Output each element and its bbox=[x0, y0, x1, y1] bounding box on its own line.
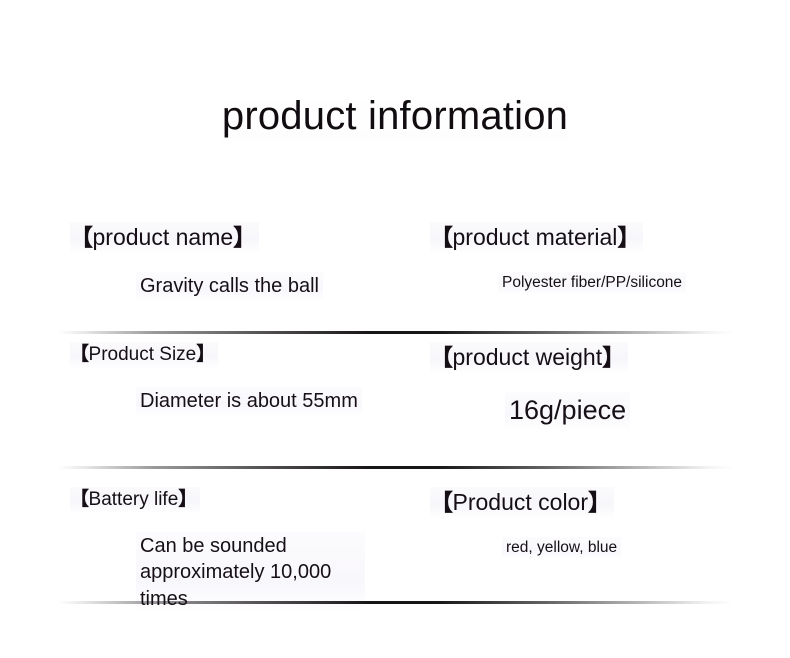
spec-label-product-weight: 【product weight】 bbox=[430, 342, 628, 374]
bracket-close-icon: 】 bbox=[617, 224, 640, 250]
spec-row: 【Battery life】 Can be sounded approximat… bbox=[0, 487, 790, 632]
bracket-open-icon: 【 bbox=[70, 224, 93, 250]
spec-label-text: Product Size bbox=[89, 344, 197, 365]
bracket-close-icon: 】 bbox=[233, 224, 256, 250]
spec-table: 【product name】 Gravity calls the ball 【p… bbox=[0, 222, 790, 632]
bracket-close-icon: 】 bbox=[602, 344, 625, 370]
spec-value-product-size: Diameter is about 55mm bbox=[136, 387, 362, 416]
row-divider bbox=[58, 601, 734, 604]
spec-row: 【product name】 Gravity calls the ball 【p… bbox=[0, 222, 790, 342]
spec-value-product-color: red, yellow, blue bbox=[502, 537, 621, 560]
bracket-open-icon: 【 bbox=[70, 344, 89, 365]
spec-label-text: product name bbox=[93, 224, 234, 250]
spec-label-product-name: 【product name】 bbox=[70, 222, 259, 254]
bracket-close-icon: 】 bbox=[178, 489, 197, 510]
bracket-close-icon: 】 bbox=[196, 344, 215, 365]
spec-label-product-material: 【product material】 bbox=[430, 222, 643, 254]
spec-value-product-name: Gravity calls the ball bbox=[136, 272, 323, 301]
spec-value-product-material: Polyester fiber/PP/silicone bbox=[498, 272, 686, 295]
bracket-open-icon: 【 bbox=[70, 489, 89, 510]
spec-label-text: product material bbox=[453, 224, 618, 250]
spec-cell-product-color: 【Product color】 red, yellow, blue bbox=[365, 487, 790, 560]
spec-cell-battery-life: 【Battery life】 Can be sounded approximat… bbox=[0, 487, 365, 614]
bracket-close-icon: 】 bbox=[588, 489, 611, 515]
spec-label-battery-life: 【Battery life】 bbox=[70, 487, 200, 514]
spec-label-text: Product color bbox=[453, 489, 589, 515]
row-divider bbox=[58, 466, 734, 469]
bracket-open-icon: 【 bbox=[430, 224, 453, 250]
product-information-page: product information 【product name】 Gravi… bbox=[0, 0, 790, 658]
spec-label-text: Battery life bbox=[89, 489, 179, 510]
row-divider bbox=[58, 331, 734, 334]
spec-cell-product-weight: 【product weight】 16g/piece bbox=[365, 342, 790, 430]
spec-cell-product-material: 【product material】 Polyester fiber/PP/si… bbox=[365, 222, 790, 295]
spec-label-text: product weight bbox=[453, 344, 603, 370]
page-title-container: product information bbox=[0, 66, 790, 166]
spec-label-product-color: 【Product color】 bbox=[430, 487, 614, 519]
spec-label-product-size: 【Product Size】 bbox=[70, 342, 218, 369]
spec-value-product-weight: 16g/piece bbox=[505, 392, 630, 431]
spec-cell-product-name: 【product name】 Gravity calls the ball bbox=[0, 222, 365, 301]
spec-cell-product-size: 【Product Size】 Diameter is about 55mm bbox=[0, 342, 365, 416]
bracket-open-icon: 【 bbox=[430, 344, 453, 370]
page-title: product information bbox=[222, 93, 568, 139]
bracket-open-icon: 【 bbox=[430, 489, 453, 515]
